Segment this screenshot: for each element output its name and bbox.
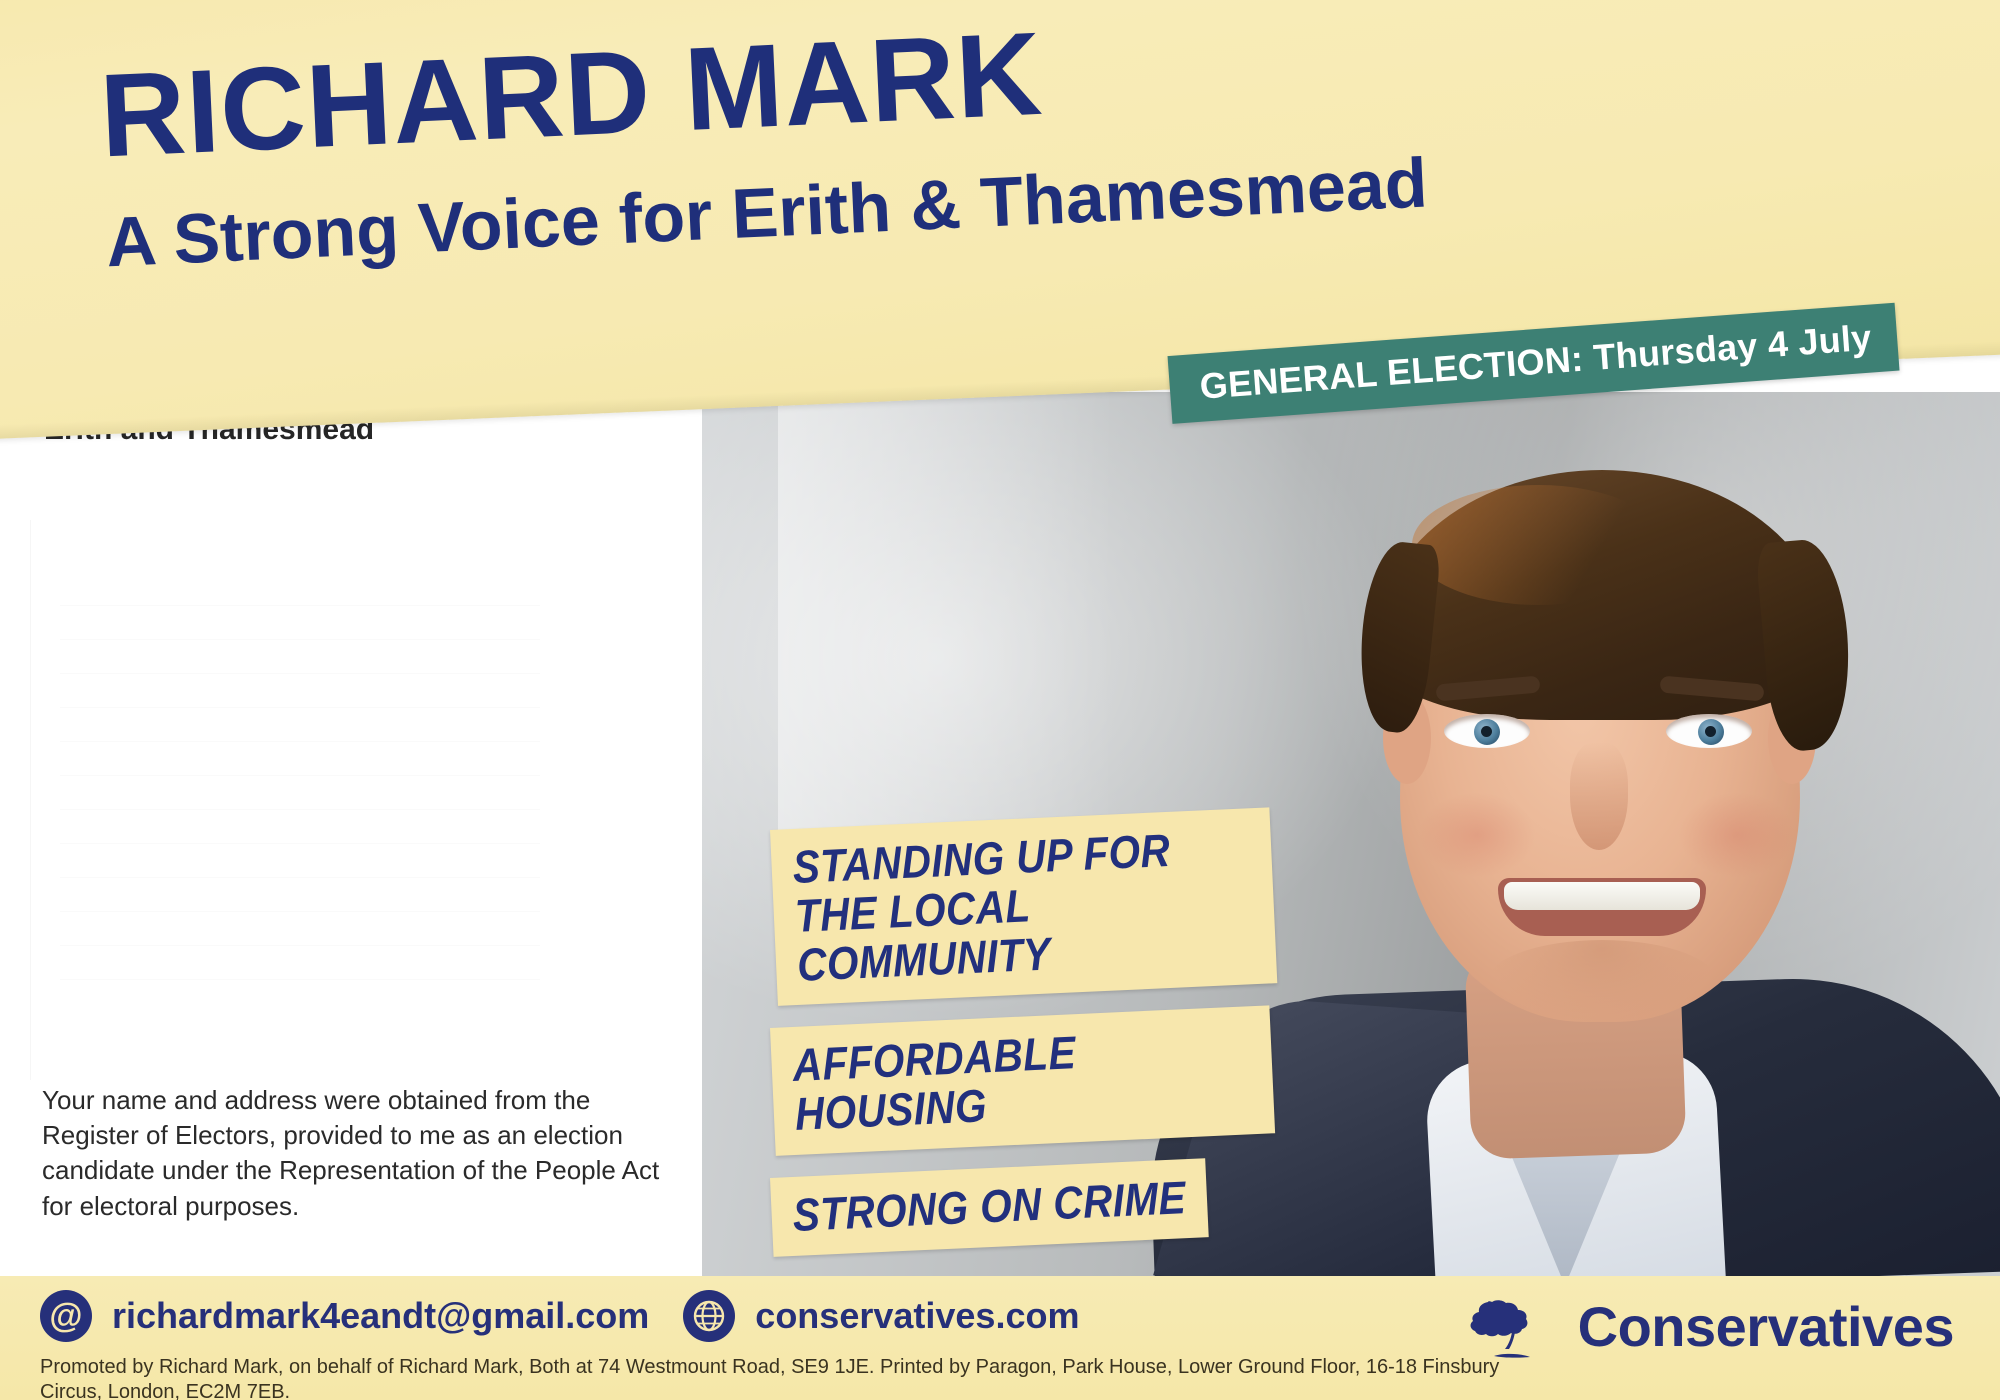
pledge-list: STANDING UP FOR THE LOCAL COMMUNITY AFFO…	[770, 830, 1330, 1279]
website-text[interactable]: conservatives.com	[755, 1295, 1079, 1337]
nose-shape	[1570, 742, 1628, 850]
email-contact[interactable]: @ richardmark4eandt@gmail.com	[40, 1290, 649, 1342]
teeth-shape	[1504, 882, 1700, 910]
cheek-right-shape	[1678, 792, 1796, 878]
pledge-item: AFFORDABLE HOUSING	[770, 1006, 1275, 1156]
imprint-text: Promoted by Richard Mark, on behalf of R…	[40, 1355, 1540, 1400]
footer-contacts: @ richardmark4eandt@gmail.com conservati…	[40, 1290, 1079, 1342]
footer: @ richardmark4eandt@gmail.com conservati…	[0, 1276, 2000, 1400]
chin-shape	[1486, 940, 1718, 1026]
conservatives-brand: Conservatives	[1468, 1284, 1954, 1369]
globe-icon	[683, 1290, 735, 1342]
cheek-left-shape	[1418, 792, 1536, 878]
address-panel: Election Communication Erith and Thamesm…	[0, 400, 702, 1276]
pledge-item: STRONG ON CRIME	[770, 1158, 1209, 1256]
website-contact[interactable]: conservatives.com	[683, 1290, 1079, 1342]
pupil-right-shape	[1705, 726, 1716, 737]
address-window-area	[0, 520, 702, 1080]
register-of-electors-note: Your name and address were obtained from…	[42, 1083, 662, 1224]
at-icon: @	[40, 1290, 92, 1342]
brand-name: Conservatives	[1578, 1294, 1954, 1359]
election-leaflet: GENERAL ELECTION: Thursday 4 July STANDI…	[0, 0, 2000, 1400]
email-text[interactable]: richardmark4eandt@gmail.com	[112, 1295, 649, 1337]
mouth-shape	[1498, 878, 1706, 936]
pledge-item: STANDING UP FOR THE LOCAL COMMUNITY	[770, 807, 1277, 1006]
pupil-left-shape	[1481, 726, 1492, 737]
